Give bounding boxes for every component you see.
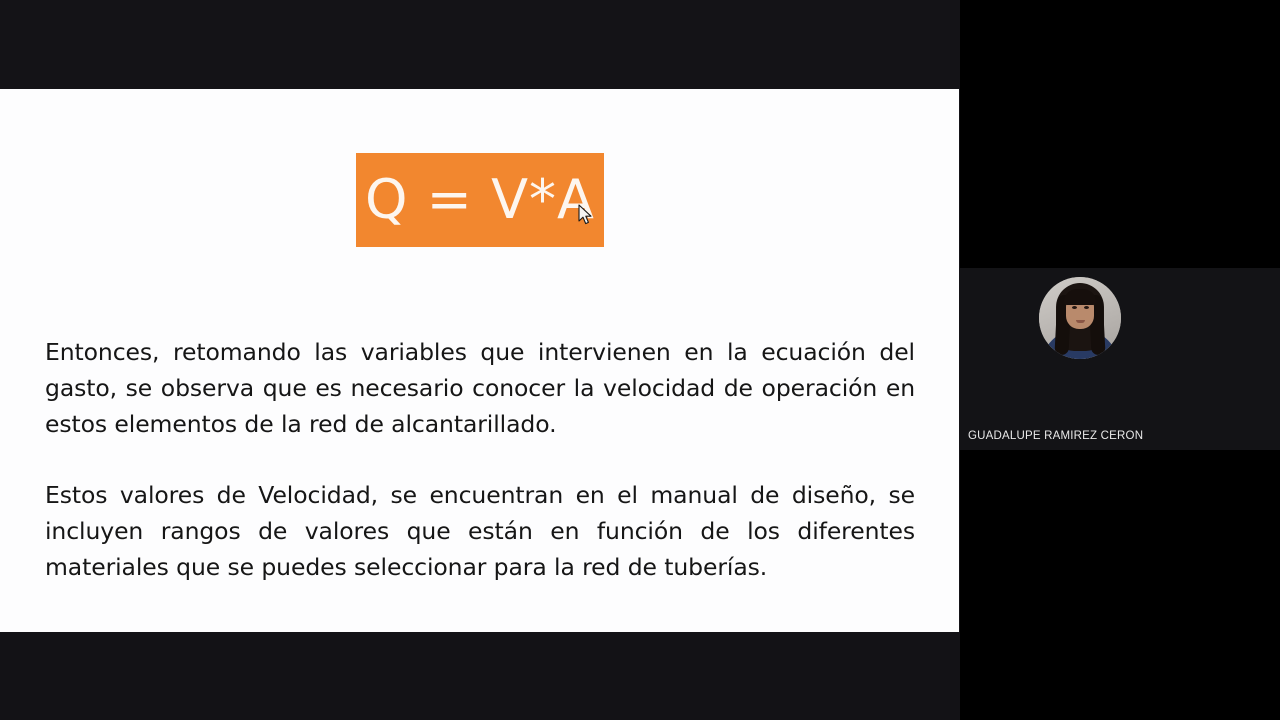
letterbox-band-bottom: [0, 632, 960, 720]
participant-name-label: GUADALUPE RAMIREZ CERON: [968, 430, 1143, 442]
letterbox-band-top: [0, 0, 960, 89]
slide-paragraph-2: Estos valores de Velocidad, se encuentra…: [45, 477, 915, 585]
meeting-screen: Q = V*A Entonces, retomando las variable…: [0, 0, 1280, 720]
slide-paragraph-1: Entonces, retomando las variables que in…: [45, 334, 915, 442]
shared-content-region[interactable]: Q = V*A Entonces, retomando las variable…: [0, 0, 960, 720]
participant-video-tile[interactable]: GUADALUPE RAMIREZ CERON: [960, 268, 1280, 450]
participant-rail: GUADALUPE RAMIREZ CERON: [960, 0, 1280, 720]
presentation-slide[interactable]: Q = V*A Entonces, retomando las variable…: [0, 89, 959, 632]
formula-text: Q = V*A: [365, 173, 595, 227]
formula-highlight-box: Q = V*A: [356, 153, 604, 247]
avatar: [1039, 277, 1121, 359]
